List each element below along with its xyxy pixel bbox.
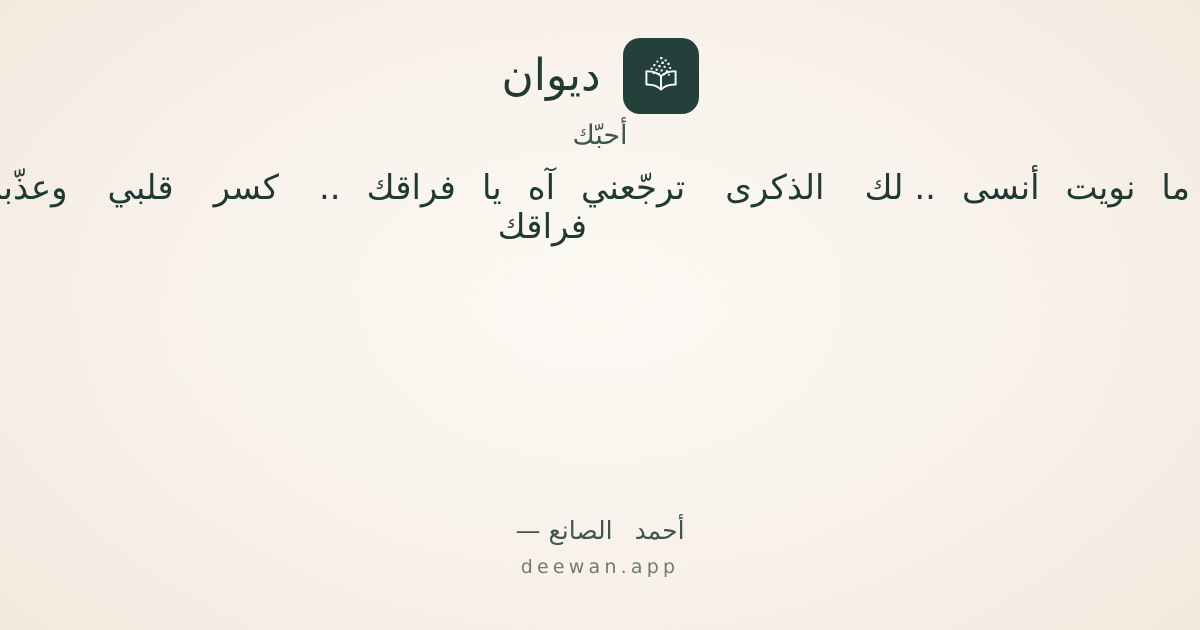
brand-header: ديوان: [0, 36, 1200, 116]
poem-title: أحبّك: [0, 120, 1200, 152]
poem-word: ترجّعني: [581, 168, 685, 208]
poet-last-name: الصانع: [548, 515, 612, 546]
poem-word: قلبي: [108, 168, 174, 208]
site-domain: deewan.app: [0, 556, 1200, 578]
poem-body: مانويتأنسى.. لكالذكرىترجّعنيفراقكآهيافرا…: [0, 160, 1200, 216]
brand-name: ديوان: [501, 54, 600, 98]
poem-word: الذكرى: [725, 168, 824, 208]
share-card: ديوان أحبّك مانويتأنسى.. لكالذكرىترجّعني…: [0, 0, 1200, 630]
poem-word: .. لك: [865, 168, 936, 208]
poem-line: مانويتأنسى.. لكالذكرىترجّعنيفراقكآهيافرا…: [0, 160, 1200, 216]
poem-word: ..: [319, 168, 341, 208]
app-logo: [623, 38, 699, 114]
poet-first-name: أحمد: [635, 515, 685, 546]
poem-word: وعذّبني: [0, 168, 68, 208]
poem-word: نويت: [1066, 168, 1136, 208]
attribution-dash: —: [515, 515, 540, 546]
poem-word: فراقك: [367, 168, 456, 208]
open-book-sparkles-icon: [636, 51, 686, 101]
poem-word: ما: [1161, 168, 1190, 208]
attribution: أحمدالصانع—: [0, 515, 1200, 546]
poem-word: كسر: [214, 168, 279, 208]
poem-word: أنسى: [962, 168, 1040, 208]
poem-word-overlapped: فراقك: [498, 199, 587, 255]
